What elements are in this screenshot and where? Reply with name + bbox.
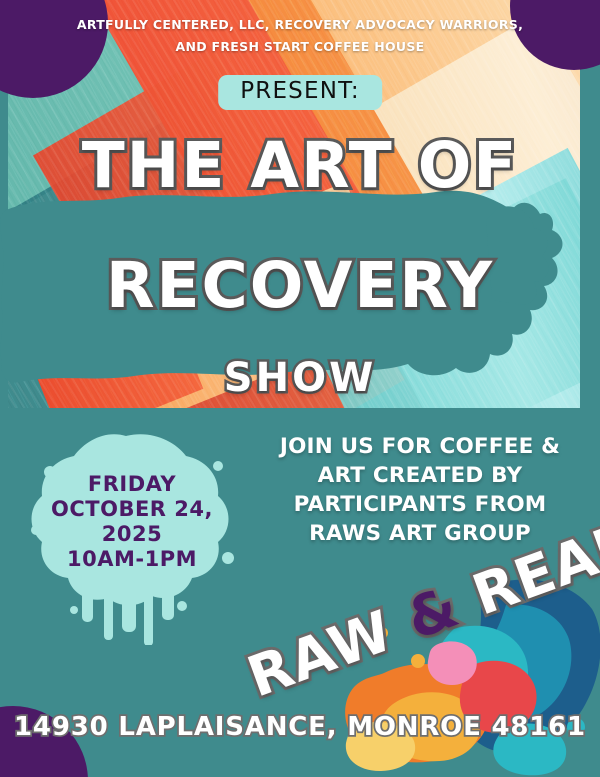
body-line-2: ART CREATED BY (255, 461, 585, 490)
presenter-credits: ARTFULLY CENTERED, LLC, RECOVERY ADVOCAC… (0, 14, 600, 58)
date-splash: FRIDAY OCTOBER 24, 2025 10AM-1PM (22, 430, 242, 645)
present-badge: PRESENT: (218, 75, 382, 110)
credit-line-1: ARTFULLY CENTERED, LLC, RECOVERY ADVOCAC… (0, 14, 600, 36)
event-description: JOIN US FOR COFFEE & ART CREATED BY PART… (255, 432, 585, 548)
title-line-3: SHOW (0, 358, 600, 398)
body-line-3: PARTICIPANTS FROM (255, 490, 585, 519)
event-date-time: FRIDAY OCTOBER 24, 2025 10AM-1PM (22, 472, 242, 572)
flyer-poster: ARTFULLY CENTERED, LLC, RECOVERY ADVOCAC… (0, 0, 600, 777)
date-line-3: 2025 (22, 522, 242, 547)
title-line-2: RECOVERY (0, 254, 600, 317)
date-line-1: FRIDAY (22, 472, 242, 497)
date-line-4: 10AM-1PM (22, 547, 242, 572)
venue-address: 14930 LAPLAISANCE, MONROE 48161 (0, 712, 600, 742)
credit-line-2: AND FRESH START COFFEE HOUSE (0, 36, 600, 58)
title-line-1: THE ART OF (0, 134, 600, 197)
date-line-2: OCTOBER 24, (22, 497, 242, 522)
body-line-1: JOIN US FOR COFFEE & (255, 432, 585, 461)
